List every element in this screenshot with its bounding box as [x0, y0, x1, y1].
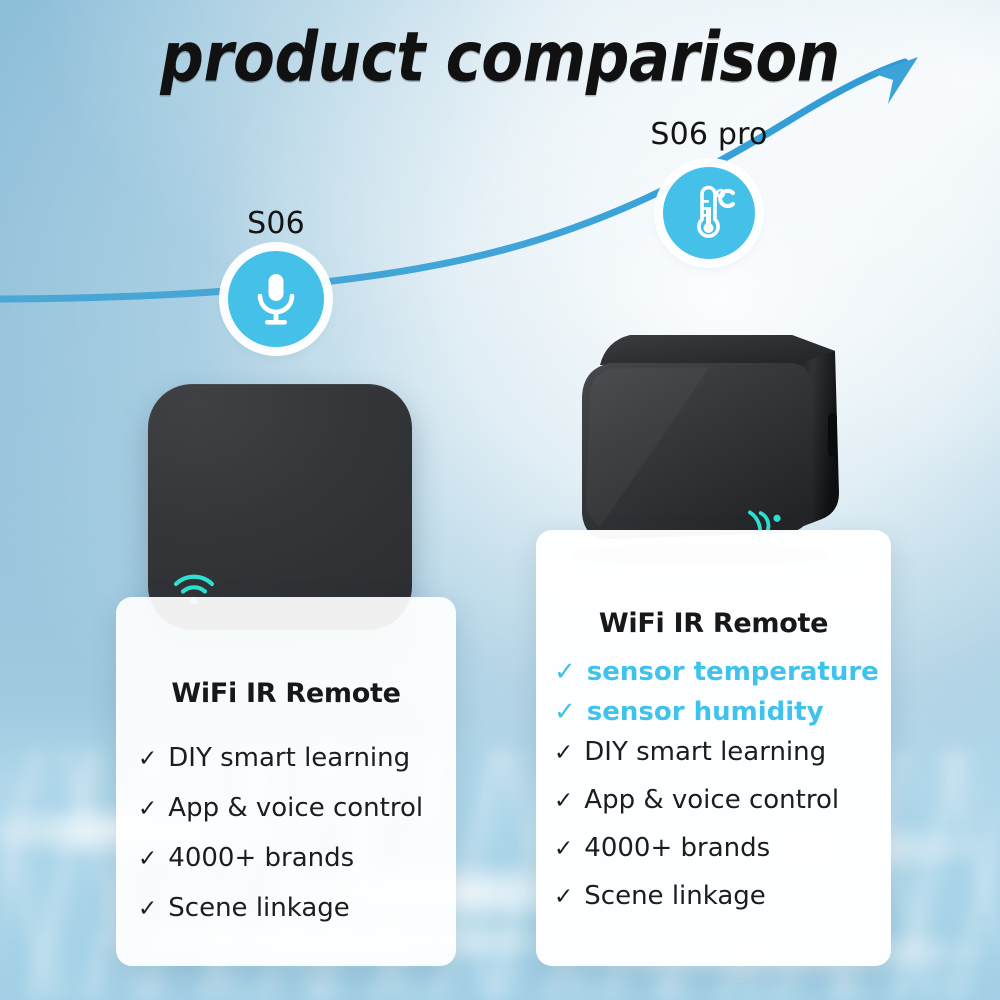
- device-body: [560, 307, 850, 565]
- list-item: ✓ 4000+ brands: [554, 835, 891, 861]
- feature-label: sensor temperature: [587, 659, 879, 685]
- product-card-s06[interactable]: WiFi IR Remote ✓ DIY smart learning ✓ Ap…: [116, 597, 456, 966]
- card-title: WiFi IR Remote: [116, 678, 456, 709]
- badge-s06[interactable]: [228, 251, 324, 347]
- thermometer-celsius-icon: [683, 185, 735, 241]
- device-s06-pro: [560, 307, 850, 565]
- check-icon: ✓: [554, 838, 573, 861]
- node-label-s06-pro: S06 pro: [609, 117, 809, 152]
- feature-label: App & voice control: [584, 787, 839, 813]
- product-comparison-infographic: product comparison S06 S06 pro: [0, 0, 1000, 1000]
- check-icon: ✓: [138, 848, 157, 871]
- badge-s06-pro[interactable]: [663, 167, 755, 259]
- check-icon: ✓: [554, 659, 576, 685]
- feature-label: 4000+ brands: [584, 835, 770, 861]
- list-item: ✓ App & voice control: [138, 795, 456, 821]
- feature-label: 4000+ brands: [168, 845, 354, 871]
- feature-label: sensor humidity: [587, 699, 824, 725]
- list-item: ✓ 4000+ brands: [138, 845, 456, 871]
- check-icon: ✓: [138, 748, 157, 771]
- check-icon: ✓: [554, 699, 576, 725]
- list-item: ✓ Scene linkage: [554, 883, 891, 909]
- list-item-highlight: ✓ sensor humidity: [554, 699, 891, 725]
- list-item: ✓ Scene linkage: [138, 895, 456, 921]
- feature-label: DIY smart learning: [584, 739, 826, 765]
- list-item: ✓ DIY smart learning: [138, 745, 456, 771]
- device-s06: [148, 384, 412, 630]
- product-card-s06-pro[interactable]: WiFi IR Remote ✓ sensor temperature ✓ se…: [536, 530, 891, 966]
- feature-list: ✓ sensor temperature ✓ sensor humidity ✓…: [536, 659, 891, 909]
- check-icon: ✓: [554, 886, 573, 909]
- card-title: WiFi IR Remote: [536, 608, 891, 639]
- check-icon: ✓: [554, 742, 573, 765]
- feature-label: DIY smart learning: [168, 745, 410, 771]
- check-icon: ✓: [554, 790, 573, 813]
- feature-label: App & voice control: [168, 795, 423, 821]
- list-item-highlight: ✓ sensor temperature: [554, 659, 891, 685]
- check-icon: ✓: [138, 898, 157, 921]
- page-title: product comparison: [0, 18, 1000, 98]
- feature-label: Scene linkage: [584, 883, 766, 909]
- feature-label: Scene linkage: [168, 895, 350, 921]
- list-item: ✓ App & voice control: [554, 787, 891, 813]
- list-item: ✓ DIY smart learning: [554, 739, 891, 765]
- feature-list: ✓ DIY smart learning ✓ App & voice contr…: [116, 745, 456, 921]
- microphone-icon: [251, 270, 301, 328]
- node-label-s06: S06: [196, 206, 356, 241]
- check-icon: ✓: [138, 798, 157, 821]
